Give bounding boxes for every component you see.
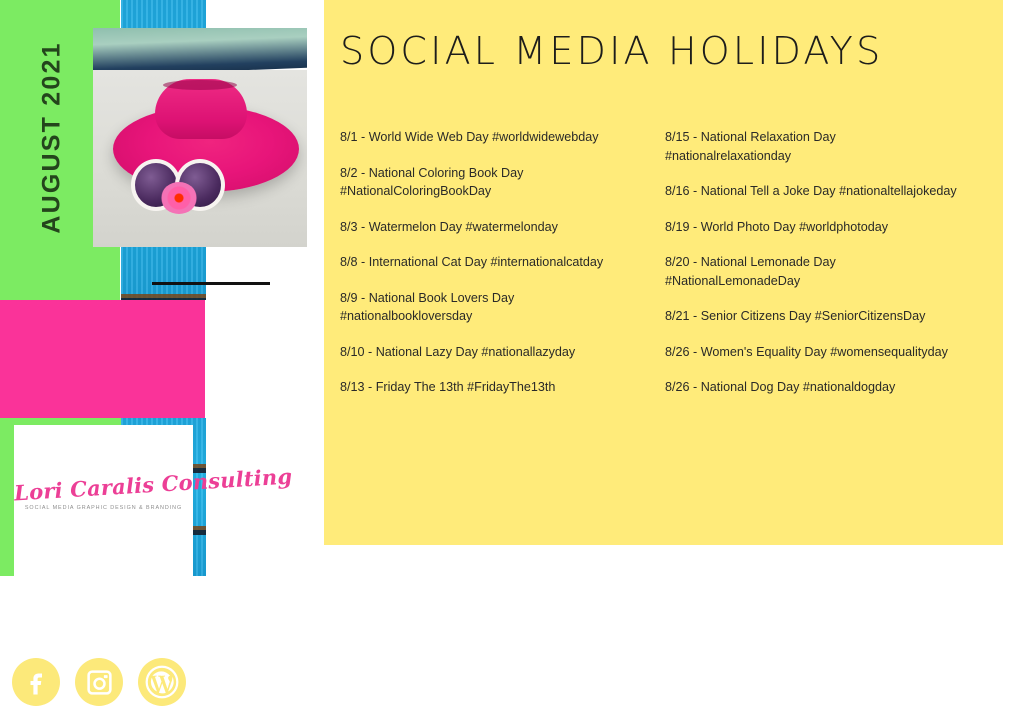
list-item: 8/9 - National Book Lovers Day #national…	[340, 289, 645, 326]
social-cta-text: Follow for social media tips:	[12, 630, 202, 645]
list-item: 8/16 - National Tell a Joke Day #nationa…	[665, 182, 965, 201]
page-title: SOCIAL MEDIA HOLIDAYS	[340, 29, 883, 73]
social-icon-row	[12, 658, 186, 706]
list-item: 8/26 - National Dog Day #nationaldogday	[665, 378, 965, 397]
social-follow-strip: Follow for social media tips:	[0, 300, 205, 418]
list-item: 8/21 - Senior Citizens Day #SeniorCitize…	[665, 307, 965, 326]
instagram-icon[interactable]	[75, 658, 123, 706]
list-item: 8/26 - Women's Equality Day #womensequal…	[665, 343, 965, 362]
list-item: 8/19 - World Photo Day #worldphotoday	[665, 218, 965, 237]
decorative-rule	[152, 282, 270, 285]
photo-hat-dent	[163, 80, 237, 90]
list-item: 8/1 - World Wide Web Day #worldwidewebda…	[340, 128, 645, 147]
wordpress-icon[interactable]	[138, 658, 186, 706]
holiday-column-right: 8/15 - National Relaxation Day #national…	[665, 128, 990, 414]
list-item: 8/8 - International Cat Day #internation…	[340, 253, 645, 272]
logo-script-text: Lori Caralis Consulting	[13, 470, 193, 506]
photo-flower	[161, 182, 197, 214]
month-label-wrapper: AUGUST 2021	[20, 30, 84, 245]
photo-sunglasses	[131, 156, 221, 210]
holiday-column-left: 8/1 - World Wide Web Day #worldwidewebda…	[340, 128, 665, 414]
brand-logo-card: Lori Caralis Consulting SOCIAL MEDIA GRA…	[14, 425, 193, 576]
list-item: 8/20 - National Lemonade Day #NationalLe…	[665, 253, 965, 290]
month-label: AUGUST 2021	[38, 41, 67, 233]
list-item: 8/2 - National Coloring Book Day #Nation…	[340, 164, 645, 201]
slide-canvas: AUGUST 2021 Follow for social media tips…	[0, 0, 1024, 576]
list-item: 8/10 - National Lazy Day #nationallazyda…	[340, 343, 645, 362]
facebook-icon[interactable]	[12, 658, 60, 706]
list-item: 8/13 - Friday The 13th #FridayThe13th	[340, 378, 645, 397]
list-item: 8/15 - National Relaxation Day #national…	[665, 128, 965, 165]
holiday-columns: 8/1 - World Wide Web Day #worldwidewebda…	[340, 128, 990, 414]
list-item: 8/3 - Watermelon Day #watermelonday	[340, 218, 645, 237]
logo-tagline-text: SOCIAL MEDIA GRAPHIC DESIGN & BRANDING	[14, 505, 193, 511]
beach-hat-photo	[93, 28, 307, 247]
